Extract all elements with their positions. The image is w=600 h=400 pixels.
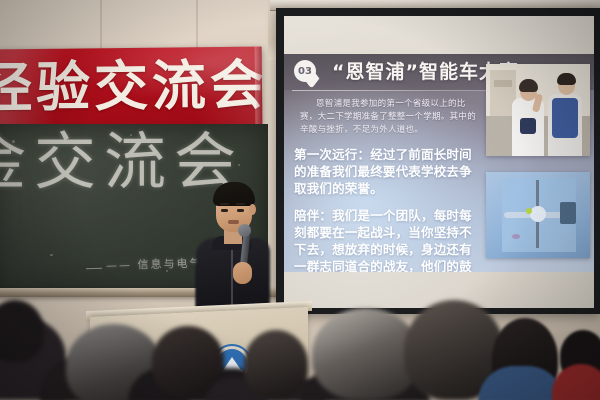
chalkboard-text: 金交流会 — [0, 124, 244, 204]
presentation-slide: 03 “恩智浦”智能车大赛 恩智浦是我参加的第一个省级以上的比赛，大二下学期准备… — [284, 54, 594, 272]
slide-paragraph: 第一次远行：经过了前面长时间的准备我们最终要代表学校去争取我们的荣誉。 — [294, 146, 480, 197]
chalkboard-subtitle: —— 信息与电气 — [106, 255, 203, 274]
lecture-hall-photo: 经验交流会 金交流会 —— 信息与电气 03 “恩智浦”智能车大赛 恩智浦是我参… — [0, 0, 600, 400]
audience-member — [244, 330, 308, 398]
banner-text: 经验交流会 — [0, 51, 262, 124]
projector-screen: 03 “恩智浦”智能车大赛 恩智浦是我参加的第一个省级以上的比赛，大二下学期准备… — [284, 16, 594, 308]
slide-body: 第一次远行：经过了前面长时间的准备我们最终要代表学校去争取我们的荣誉。 陪伴：我… — [294, 146, 480, 272]
red-banner: 经验交流会 — [0, 47, 262, 128]
speaker-ear — [249, 204, 256, 215]
slide-badge-number: 03 — [294, 60, 316, 82]
microphone-head-icon — [238, 224, 251, 237]
slide-photo-device — [486, 172, 590, 258]
speaker-mouth — [228, 220, 239, 224]
location-pin-icon: 03 — [294, 60, 318, 86]
slide-photo-team — [486, 64, 590, 156]
speaker-hand — [233, 262, 252, 284]
slide-paragraph: 陪伴：我们是一个团队，每时每刻都要在一起战斗，当你坚持不下去，想放弃的时候，身边… — [294, 207, 480, 272]
slide-intro-text: 恩智浦是我参加的第一个省级以上的比赛，大二下学期准备了整整一个学期。其中的辛酸与… — [300, 98, 482, 137]
banner-edge — [255, 47, 263, 125]
